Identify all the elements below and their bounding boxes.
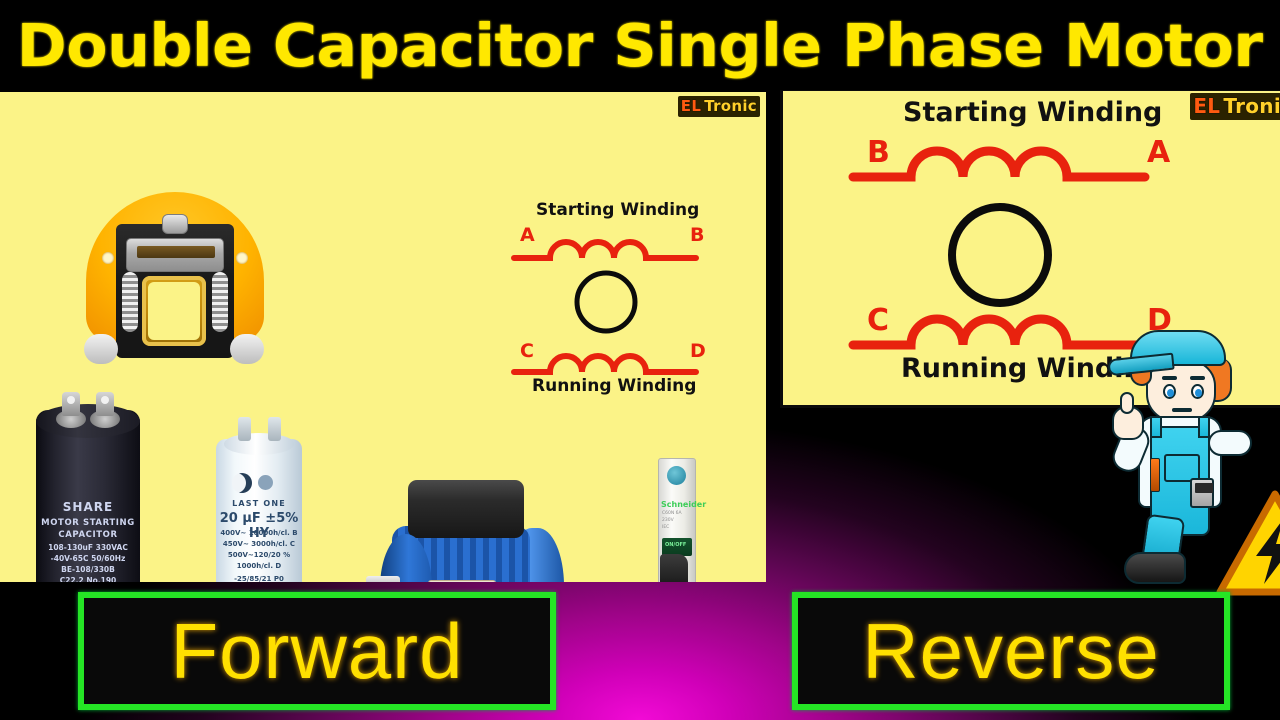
rotor-circle (952, 207, 1048, 303)
overall-strap (1198, 416, 1210, 438)
breaker-indicator-text: ON/OFF (665, 542, 686, 548)
capacitor-logo-icon (232, 473, 252, 493)
watermark-left: ELTronic (678, 96, 760, 117)
mouth-icon (1172, 408, 1192, 412)
right-arm (1208, 430, 1252, 456)
reverse-label-box[interactable]: Reverse (792, 592, 1230, 710)
watermark-el-text: EL (681, 97, 701, 115)
capacitor-line-6: C22.2 No.190 (36, 577, 140, 582)
watermark-tronic-text: Troni (1223, 94, 1280, 118)
bracket-hole (236, 252, 248, 264)
capacitor-top (36, 404, 140, 438)
switch-spring (122, 272, 138, 332)
capacitor-logo-2-icon (258, 475, 273, 490)
capacitor-line-3: 500V~120/20 % (216, 551, 302, 559)
capacitor-line-5: -25/85/21 P0 (216, 575, 302, 582)
motor-terminal-box (408, 480, 524, 538)
breaker-spec: C60N 6A230VIEC (662, 511, 692, 531)
multimeter-icon (1190, 478, 1214, 508)
centrifugal-switch-image (78, 188, 273, 368)
single-phase-motor-image (366, 480, 578, 582)
starting-winding-coil (514, 242, 696, 258)
page-title: Double Capacitor Single Phase Motor (17, 11, 1263, 80)
capacitor-brand: SHARE (36, 500, 140, 514)
motor-shaft (366, 576, 400, 582)
thumb-icon (1120, 392, 1134, 414)
capacitor-line-5: BE-108/330B (36, 566, 140, 575)
forward-schematic-svg (510, 200, 725, 400)
run-capacitor-image: LAST ONE 20 µF ±5% HY 400V~ 10000h/cl. B… (216, 417, 302, 582)
switch-spring (212, 272, 228, 332)
start-capacitor-image: SHARE MOTOR STARTING CAPACITOR 108-130uF… (36, 392, 140, 582)
forward-panel: ELTronic SHARE MOTOR STARTING (0, 92, 766, 582)
title-bar: Double Capacitor Single Phase Motor (0, 0, 1280, 90)
shoe (1124, 552, 1186, 584)
cartoon-electrician (1098, 330, 1280, 588)
capacitor-terminal (268, 417, 281, 441)
eye-icon (1191, 384, 1204, 399)
eye-icon (1163, 384, 1176, 399)
reverse-label-text: Reverse (862, 612, 1159, 690)
screenshot-root: Double Capacitor Single Phase Motor ELTr… (0, 0, 1280, 720)
watermark-tronic-text: Tronic (704, 97, 757, 115)
motor-nameplate (428, 580, 496, 582)
switch-ring (142, 276, 206, 346)
starting-winding-coil (853, 151, 1145, 177)
capacitor-line-4: -40V-65C 50/60Hz (36, 555, 140, 564)
capacitor-brand: LAST ONE (216, 499, 302, 508)
capacitor-terminal (96, 392, 114, 416)
switch-foot (230, 334, 264, 364)
running-winding-coil (514, 356, 696, 372)
switch-contact-plate (126, 238, 224, 272)
capacitor-line-1: MOTOR STARTING (36, 518, 140, 528)
eyebrow-icon (1190, 376, 1205, 380)
eyebrow-icon (1162, 376, 1177, 380)
breaker-toggle-lever[interactable] (660, 554, 688, 582)
forward-label-text: Forward (170, 612, 463, 690)
capacitor-line-2: 450V~ 3000h/cl. C (216, 540, 302, 548)
forward-winding-schematic: Starting Winding A B C D Running Winding (510, 200, 725, 400)
capacitor-terminal (62, 392, 80, 416)
capacitor-line-4: 1000h/cl. D (216, 562, 302, 570)
breaker-brand: Schneider (661, 500, 693, 509)
circuit-breaker-image: Schneider C60N 6A230VIEC ON/OFF (658, 458, 696, 582)
capacitor-line-1: 400V~ 10000h/cl. B (216, 529, 302, 537)
switch-knob (162, 214, 188, 234)
capacitor-top (224, 433, 294, 455)
rotor-circle (577, 273, 635, 331)
bracket-hole (102, 252, 114, 264)
screwdriver-icon (1150, 458, 1160, 492)
breaker-terminal-screw (667, 466, 686, 485)
overall-strap (1150, 416, 1162, 438)
capacitor-terminal (238, 417, 251, 441)
switch-foot (84, 334, 118, 364)
capacitor-line-2: CAPACITOR (36, 530, 140, 540)
forward-label-box[interactable]: Forward (78, 592, 556, 710)
capacitor-line-3: 108-130uF 330VAC (36, 544, 140, 553)
